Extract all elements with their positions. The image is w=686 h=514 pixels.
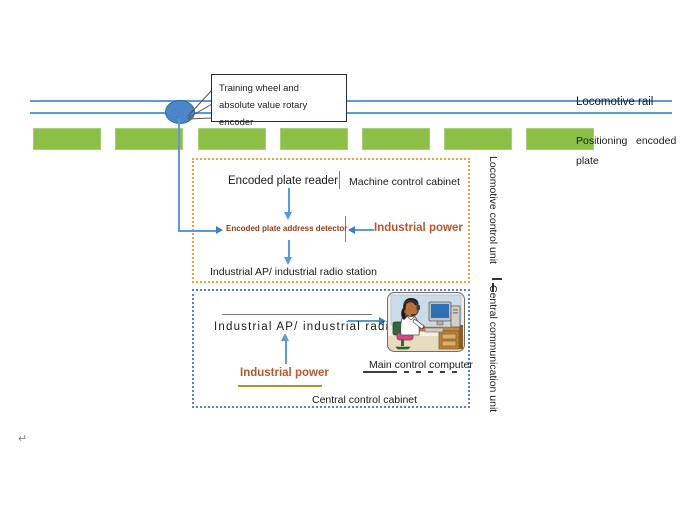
bracket-tick-horizontal — [492, 278, 502, 280]
callout-line-2: absolute value rotary encoder — [219, 97, 339, 131]
arrow-down-reader-icon — [284, 212, 292, 220]
arrow-into-detector-icon — [216, 226, 223, 234]
diagram-canvas: Training wheel and absolute value rotary… — [0, 0, 686, 514]
positioning-encoded-plate — [280, 128, 348, 150]
dash-dot-separator — [363, 371, 467, 373]
legend-plate-word-2: encoded — [636, 135, 676, 147]
locomotive-rail-bottom-line — [30, 112, 672, 114]
training-wheel-node-icon — [165, 100, 195, 124]
connector-power-to-ap-radio — [285, 338, 287, 364]
vertical-label-locomotive-control-unit: Locomotive control unit — [487, 156, 499, 264]
label-industrial-power-central: Industrial power — [240, 367, 329, 379]
label-industrial-ap-radio: Industrial AP/ industrial radio — [214, 321, 397, 333]
arrow-down-detector-icon — [284, 257, 292, 265]
positioning-encoded-plate — [362, 128, 430, 150]
divider-reader-cabinet — [339, 171, 340, 189]
arrow-left-power-icon — [348, 226, 355, 234]
label-encoded-plate-address-detector: Encoded plate address detector — [226, 224, 347, 233]
label-central-control-cabinet: Central control cabinet — [312, 394, 417, 406]
main-control-computer-clipart-icon — [387, 292, 465, 352]
label-main-control-computer: Main control computer — [369, 359, 473, 371]
label-industrial-ap-radio-station: Industrial AP/ industrial radio station — [210, 266, 377, 278]
connector-power-to-detector — [352, 229, 374, 231]
connector-node-to-detector-horizontal — [178, 230, 220, 232]
positioning-encoded-plate — [198, 128, 266, 150]
positioning-encoded-plate — [444, 128, 512, 150]
callout-line-1: Training wheel and — [219, 80, 339, 97]
paragraph-mark: ↵ — [18, 432, 27, 445]
positioning-encoded-plate — [33, 128, 101, 150]
positioning-encoded-plate — [115, 128, 183, 150]
label-encoded-plate-reader: Encoded plate reader — [228, 175, 338, 187]
legend-plate-word-3: plate — [576, 155, 599, 167]
label-machine-control-cabinet: Machine control cabinet — [349, 176, 460, 188]
label-industrial-power-locomotive: Industrial power — [374, 222, 463, 234]
underline-ap-radio — [222, 314, 372, 315]
vertical-label-central-communication-unit: Central communication unit — [487, 285, 499, 412]
connector-node-to-detector-vertical — [178, 119, 180, 231]
legend-plate-word-1: Positioning — [576, 135, 627, 147]
legend-locomotive-rail: Locomotive rail — [576, 96, 653, 108]
training-wheel-callout: Training wheel and absolute value rotary… — [211, 74, 347, 122]
underline-industrial-power-central — [238, 385, 322, 387]
connector-reader-to-detector — [288, 188, 290, 214]
arrow-up-power-icon — [281, 333, 289, 341]
